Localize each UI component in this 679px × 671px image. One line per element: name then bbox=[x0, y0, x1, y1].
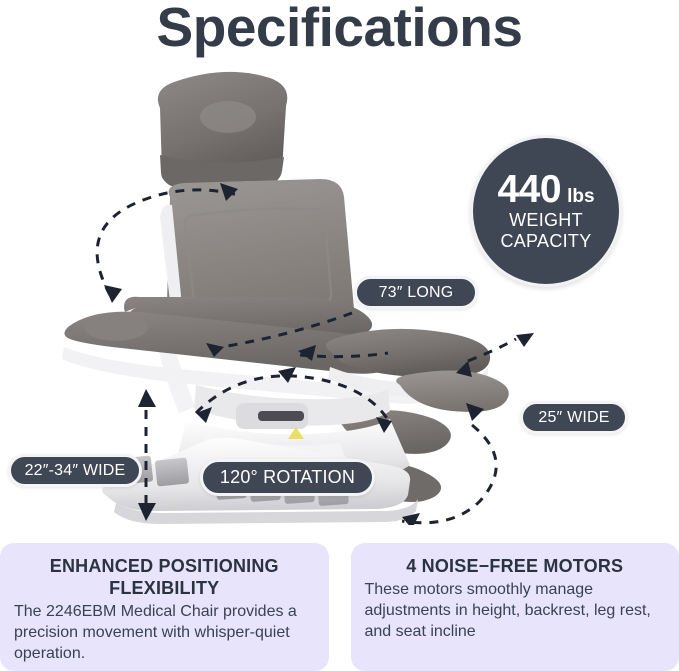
badge-label-line2: CAPACITY bbox=[500, 231, 591, 252]
callout-rotation: 120° ROTATION bbox=[200, 459, 375, 496]
feature-card-noise-free-motors: 4 NOISE−FREE MOTORS These motors smoothl… bbox=[351, 543, 679, 671]
page-title: Specifications bbox=[0, 0, 679, 58]
badge-top-row: 440 lbs bbox=[497, 170, 594, 210]
feature-card-body: The 2246EBM Medical Chair provides a pre… bbox=[14, 601, 315, 664]
feature-card-body: These motors smoothly manage adjustments… bbox=[365, 579, 666, 642]
badge-number: 440 bbox=[497, 170, 561, 210]
callout-width: 25″ WIDE bbox=[520, 401, 628, 434]
feature-cards: ENHANCED POSITIONING FLEXIBILITY The 224… bbox=[0, 543, 679, 671]
badge-unit: lbs bbox=[567, 186, 594, 208]
callout-length: 73″ LONG bbox=[354, 276, 478, 309]
chair-headrest bbox=[158, 72, 287, 188]
feature-card-positioning-flexibility: ENHANCED POSITIONING FLEXIBILITY The 224… bbox=[0, 543, 329, 671]
weight-capacity-badge: 440 lbs WEIGHT CAPACITY bbox=[470, 135, 622, 287]
specifications-page: Specifications bbox=[0, 0, 679, 671]
feature-card-title: ENHANCED POSITIONING FLEXIBILITY bbox=[14, 555, 315, 599]
product-illustration: 440 lbs WEIGHT CAPACITY 73″ LONG 25″ WID… bbox=[0, 55, 679, 525]
feature-card-title: 4 NOISE−FREE MOTORS bbox=[365, 555, 666, 577]
callout-base-width: 22″-34″ WIDE bbox=[8, 454, 142, 487]
badge-label-line1: WEIGHT bbox=[509, 210, 583, 231]
